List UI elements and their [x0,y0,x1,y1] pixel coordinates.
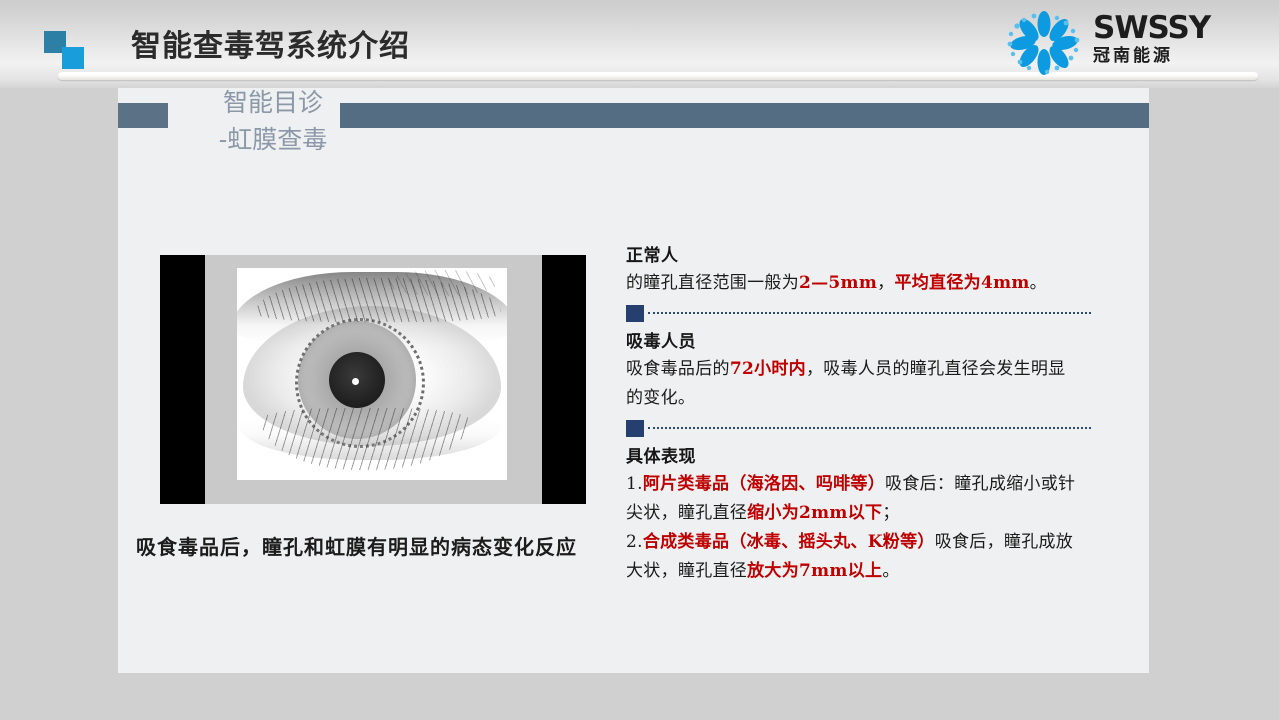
flower-petals-icon [1001,10,1087,76]
section-body: 的瞳孔直径范围一般为2—5mm，平均直径为4mm。 [626,269,1081,298]
item-part-highlight: 合成类毒品（冰毒、摇头丸、K粉等） [643,532,935,552]
figure-caption: 吸食毒品后，瞳孔和虹膜有明显的病态变化反应 [136,531,632,560]
section-heading: 吸毒人员 [626,329,1081,355]
item-number: 1. [626,474,643,494]
body-part-highlight: 72小时内 [730,359,806,379]
logo-brand-name: SWSSY [1093,12,1253,44]
divider-dotted-line [648,427,1091,429]
item-number: 2. [626,532,643,552]
divider-square-marker [626,305,644,322]
logo-text-block: SWSSY 冠南能源 [1093,12,1253,67]
item-part-highlight: 放大为7mm以上 [747,561,882,581]
body-part: ， [877,273,894,293]
body-part: 的瞳孔直径范围一般为 [626,273,799,293]
section-divider [626,416,1081,442]
title-bar-right-accent [340,103,1149,128]
item-part-highlight: 缩小为2mm以下 [747,503,882,523]
item-part: 。 [882,561,899,581]
body-part: 。 [1030,273,1047,293]
app-header: 智能查毒驾系统介绍 [0,0,1279,88]
section-heading: 具体表现 [626,444,1081,470]
item-part-highlight: 阿片类毒品（海洛因、吗啡等） [643,474,885,494]
section-divider [626,301,1081,327]
brand-logo: SWSSY 冠南能源 [1001,8,1261,78]
body-part: 吸食毒品后的 [626,359,730,379]
eye-figure [160,255,586,504]
slide-title: 智能目诊 -虹膜查毒 [178,84,368,158]
section-normal-person: 正常人 的瞳孔直径范围一般为2—5mm，平均直径为4mm。 [626,243,1081,298]
pupil-glint [352,378,359,385]
symptom-item: 2.合成类毒品（冰毒、摇头丸、K粉等）吸食后，瞳孔成放大状，瞳孔直径放大为7mm… [626,528,1081,586]
divider-dotted-line [648,312,1091,314]
symptom-item: 1.阿片类毒品（海洛因、吗啡等）吸食后：瞳孔成缩小或针尖状，瞳孔直径缩小为2mm… [626,470,1081,528]
section-body: 吸食毒品后的72小时内，吸毒人员的瞳孔直径会发生明显的变化。 [626,355,1081,413]
lower-eyelashes [261,408,469,470]
divider-square-marker [626,420,644,437]
title-bar-left-accent [118,103,168,128]
content-text-column: 正常人 的瞳孔直径范围一般为2—5mm，平均直径为4mm。 吸毒人员 吸食毒品后… [626,243,1081,586]
section-specific-symptoms: 具体表现 1.阿片类毒品（海洛因、吗啡等）吸食后：瞳孔成缩小或针尖状，瞳孔直径缩… [626,444,1081,586]
section-drug-user: 吸毒人员 吸食毒品后的72小时内，吸毒人员的瞳孔直径会发生明显的变化。 [626,329,1081,413]
logo-brand-subtitle: 冠南能源 [1093,45,1253,67]
section-heading: 正常人 [626,243,1081,269]
item-part: ； [882,503,899,523]
page-title: 智能查毒驾系统介绍 [131,21,410,65]
slide-title-line2: -虹膜查毒 [178,121,368,158]
body-part-highlight: 2—5mm [799,273,877,293]
body-part-highlight: 平均直径为4mm [894,273,1029,293]
header-decor-square-light [62,47,84,69]
slide-panel: 智能目诊 -虹膜查毒 吸食毒品后，瞳孔和虹膜有明显的病态变化反应 正常人 [118,88,1149,673]
eye-photo-image [237,268,507,480]
eye-image-frame [205,255,542,504]
slide-title-line1: 智能目诊 [223,88,323,117]
